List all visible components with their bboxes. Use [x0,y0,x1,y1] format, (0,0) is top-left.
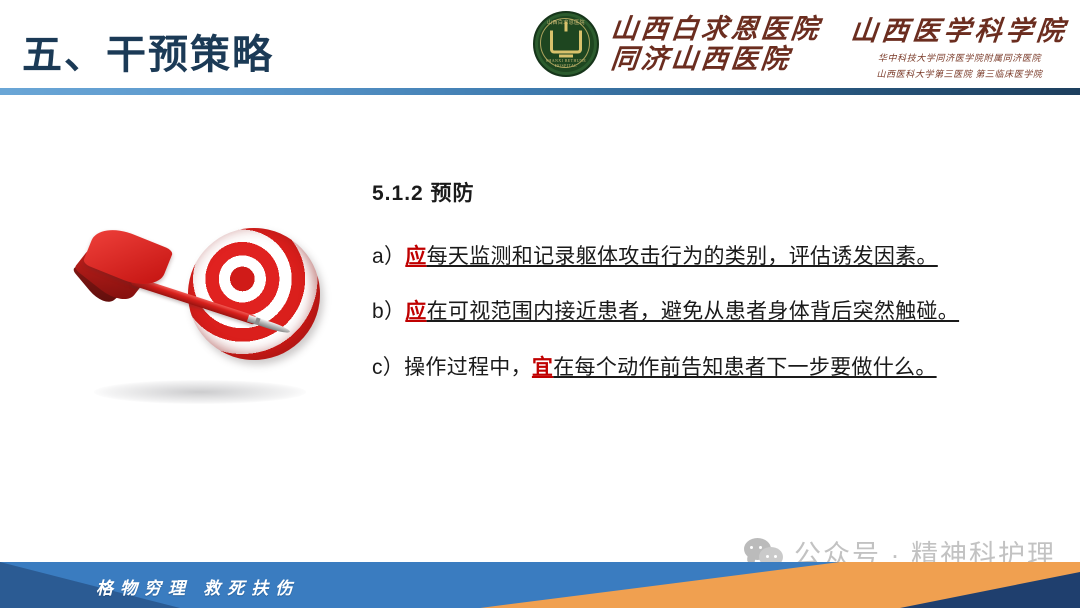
university-subtitle-line2: 山西医科大学第三医院 第三临床医学院 [851,67,1068,80]
wechat-dot-1 [750,546,753,549]
page-title: 五、干预策略 [22,22,274,80]
clause-c-marker: c）操作过程中， [372,356,532,379]
university-name: 山西医学科学院 [849,9,1070,48]
clause-b-marker: b） [372,300,405,323]
hospital-wordmark: 山西白求恩医院 同济山西医院 [611,15,821,74]
clause-b: b）应在可视范围内接近患者，避免从患者身体背后突然触碰。 [372,298,1032,326]
dartboard-rim [184,224,325,365]
slide-content: 5.1.2 预防 a）应每天监测和记录躯体攻击行为的类别，评估诱发因素。 b）应… [0,95,1080,550]
text-block: 5.1.2 预防 a）应每天监测和记录躯体攻击行为的类别，评估诱发因素。 b）应… [372,177,1032,382]
clause-c-text: 在每个动作前告知患者下一步要做什么。 [553,356,936,379]
dartboard-target-icon [184,224,325,365]
clause-a: a）应每天监测和记录躯体攻击行为的类别，评估诱发因素。 [372,243,1032,271]
dartboard-shadow [94,380,306,404]
wechat-dot-2 [759,546,762,549]
hospital-name-line2: 同济山西医院 [610,45,823,73]
clause-a-text: 每天监测和记录躯体攻击行为的类别，评估诱发因素。 [427,245,938,268]
header-divider [0,88,1080,95]
clause-a-marker: a） [372,245,405,268]
slide-header: 五、干预策略 山西白求恩医院 SHANXI BETHUNE HOSPITAL 山… [0,0,1080,92]
slide: 五、干预策略 山西白求恩医院 SHANXI BETHUNE HOSPITAL 山… [0,0,1080,608]
dartboard-illustration [60,210,335,410]
clause-c-keyword: 宜 [532,356,553,379]
university-wordmark: 山西医学科学院 华中科技大学同济医学院附属同济医院 山西医科大学第三医院 第三临… [851,9,1068,80]
emblem-bottom-text: SHANXI BETHUNE HOSPITAL [535,58,597,68]
logo-group: 山西白求恩医院 SHANXI BETHUNE HOSPITAL 山西白求恩医院 … [533,6,1068,82]
clause-b-text: 在可视范围内接近患者，避免从患者身体背后突然触碰。 [427,300,960,323]
emblem-crown-icon [550,30,582,53]
university-subtitle-line1: 华中科技大学同济医学院附属同济医院 [851,51,1068,64]
footer-motto: 格物穷理 救死扶伤 [96,574,299,599]
slide-footer: 格物穷理 救死扶伤 [0,550,1080,608]
clause-b-keyword: 应 [405,300,426,323]
clause-a-keyword: 应 [405,245,426,268]
clause-c: c）操作过程中，宜在每个动作前告知患者下一步要做什么。 [372,354,1032,382]
hospital-name-line1: 山西白求恩医院 [610,15,823,43]
hospital-emblem-icon: 山西白求恩医院 SHANXI BETHUNE HOSPITAL [533,11,599,77]
section-heading: 5.1.2 预防 [372,177,1032,207]
